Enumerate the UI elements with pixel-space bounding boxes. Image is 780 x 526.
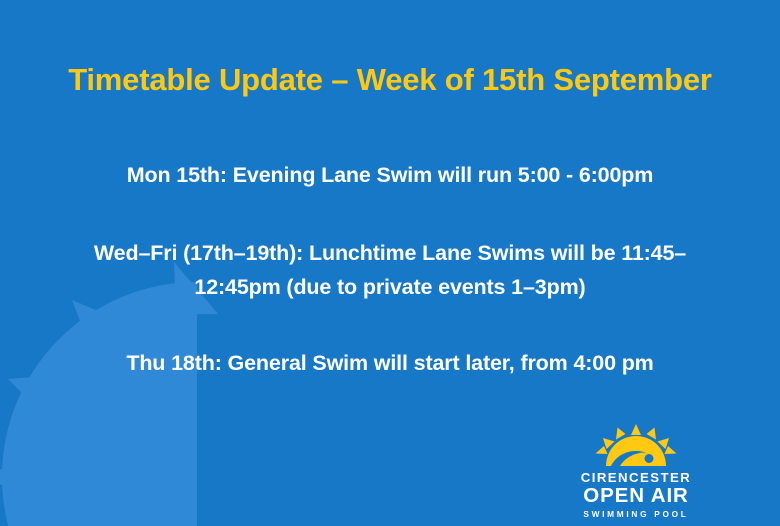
- sun-swimmer-icon: [594, 424, 678, 466]
- announcement-item-wed-fri: Wed–Fri (17th–19th): Lunchtime Lane Swim…: [0, 236, 780, 304]
- poster-canvas: Timetable Update – Week of 15th Septembe…: [0, 0, 780, 526]
- announcement-item-thursday: Thu 18th: General Swim will start later,…: [0, 346, 780, 380]
- brand-line-open-air: OPEN AIR: [575, 485, 697, 507]
- brand-line-cirencester: CIRENCESTER: [575, 470, 697, 485]
- announcement-item-monday: Mon 15th: Evening Lane Swim will run 5:0…: [0, 158, 780, 192]
- spacer-2: [0, 304, 780, 346]
- brand-line-swimming-pool: SWIMMING POOL: [575, 508, 697, 520]
- spacer-1: [0, 192, 780, 236]
- page-title: Timetable Update – Week of 15th Septembe…: [0, 58, 780, 102]
- announcement-list: Mon 15th: Evening Lane Swim will run 5:0…: [0, 158, 780, 380]
- brand-logo: CIRENCESTER OPEN AIR SWIMMING POOL: [575, 424, 697, 520]
